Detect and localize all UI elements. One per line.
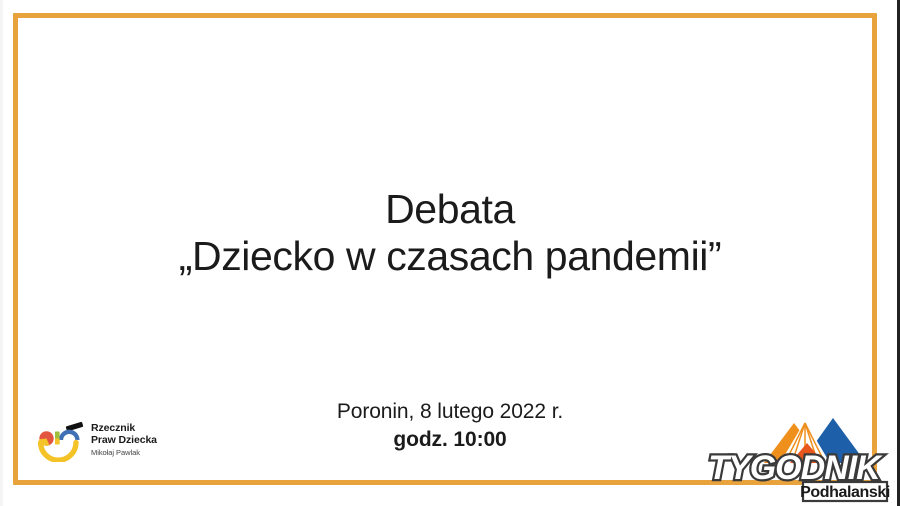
- tygodnik-podhalanski-logo: TYGODNIK Podhalanski: [691, 401, 896, 506]
- tp-wordmark-bottom: Podhalanski: [800, 482, 890, 501]
- rzecznik-praw-dziecka-logo: Rzecznik Praw Dziecka Mikołaj Pawlak: [36, 414, 176, 466]
- presentation-slide: Debata „Dziecko w czasach pandemii” Poro…: [0, 0, 900, 506]
- rpd-logo-mark-icon: [36, 418, 84, 462]
- rpd-line-3: Mikołaj Pawlak: [91, 449, 157, 457]
- svg-text:Podhalanski: Podhalanski: [800, 484, 890, 501]
- title-line-1: Debata: [0, 186, 900, 233]
- rpd-logo-wordmark: Rzecznik Praw Dziecka Mikołaj Pawlak: [91, 423, 157, 457]
- title-line-2: „Dziecko w czasach pandemii”: [0, 233, 900, 280]
- rpd-line-2: Praw Dziecka: [91, 435, 157, 447]
- slide-title: Debata „Dziecko w czasach pandemii”: [0, 186, 900, 279]
